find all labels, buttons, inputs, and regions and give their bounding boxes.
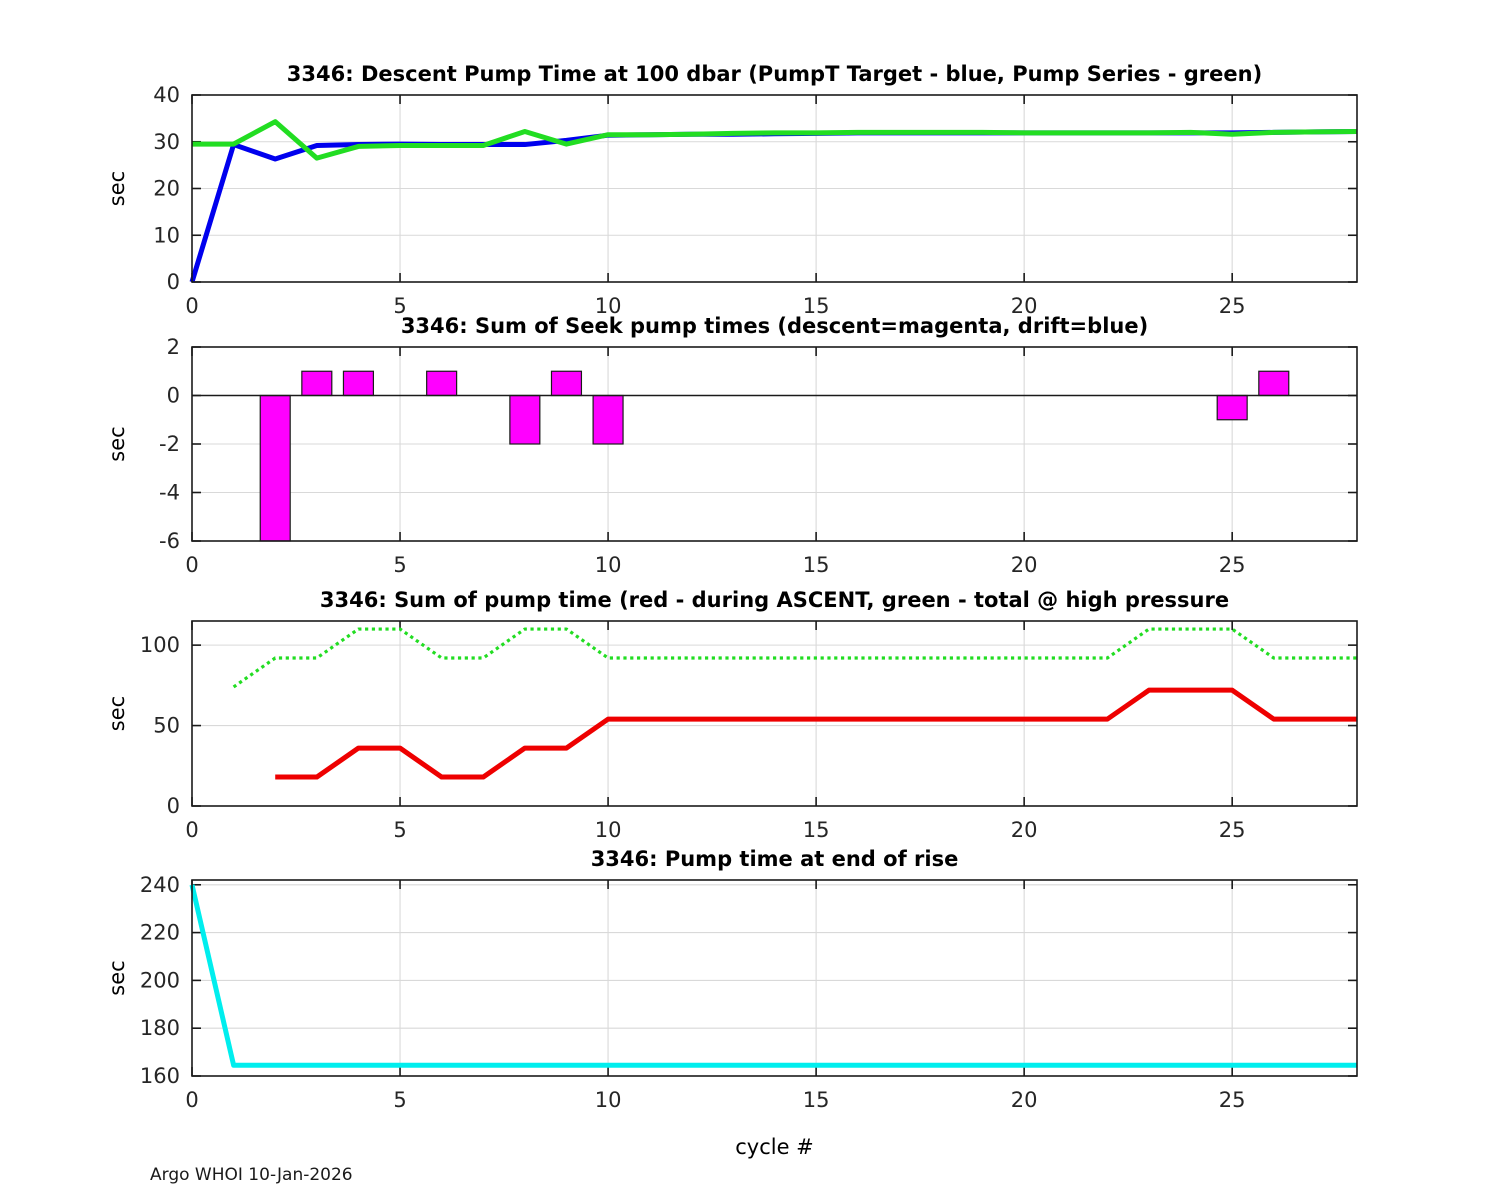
panel4-xtick-label: 10 — [595, 1088, 622, 1112]
panel1-ytick-label: 10 — [153, 223, 180, 247]
panel1-xtick-label: 25 — [1219, 294, 1246, 318]
panel2-bar — [510, 396, 540, 445]
panel4-xlabel: cycle # — [735, 1135, 814, 1159]
panel2-ytick-label: -2 — [159, 432, 180, 456]
panel1-ytick-label: 20 — [153, 177, 180, 201]
panel2-bar — [1259, 371, 1289, 395]
panel2-ytick-label: -4 — [159, 481, 180, 505]
panel3-xtick-label: 0 — [185, 818, 198, 842]
panel2-bar — [427, 371, 457, 395]
panel4-ytick-label: 180 — [140, 1016, 180, 1040]
panel1-ylabel: sec — [105, 171, 129, 206]
panel2-xtick-label: 10 — [595, 553, 622, 577]
panel2-xtick-label: 15 — [803, 553, 830, 577]
panel2-bar — [302, 371, 332, 395]
argo-pump-diagnostics-figure: 3346: Descent Pump Time at 100 dbar (Pum… — [0, 0, 1500, 1200]
panel2-bar — [1217, 396, 1247, 420]
panel3-ytick-label: 100 — [140, 633, 180, 657]
panel2-bar — [551, 371, 581, 395]
panel1-ytick-label: 0 — [167, 270, 180, 294]
panel2-bar — [343, 371, 373, 395]
panel2-bar — [260, 396, 290, 542]
panel2-ytick-label: -6 — [159, 529, 180, 553]
figure-footer: Argo WHOI 10-Jan-2026 — [150, 1165, 353, 1185]
panel2-ytick-label: 2 — [167, 335, 180, 359]
panel4-ylabel: sec — [105, 960, 129, 995]
panel2-title: 3346: Sum of Seek pump times (descent=ma… — [401, 314, 1148, 338]
panel4-title: 3346: Pump time at end of rise — [591, 847, 959, 871]
panel3-ytick-label: 0 — [167, 794, 180, 818]
panel2-xtick-label: 0 — [185, 553, 198, 577]
panel2-bar — [593, 396, 623, 445]
panel4-ytick-label: 160 — [140, 1064, 180, 1088]
panel3-title: 3346: Sum of pump time (red - during ASC… — [320, 588, 1229, 612]
panel3-xtick-label: 15 — [803, 818, 830, 842]
panel4-ytick-label: 240 — [140, 873, 180, 897]
panel4-ytick-label: 200 — [140, 968, 180, 992]
panel4-xtick-label: 20 — [1011, 1088, 1038, 1112]
panel3-xtick-label: 25 — [1219, 818, 1246, 842]
panel1-ytick-label: 40 — [153, 83, 180, 107]
panel4-xtick-label: 5 — [393, 1088, 406, 1112]
panel1-xtick-label: 0 — [185, 294, 198, 318]
panel2-xtick-label: 20 — [1011, 553, 1038, 577]
panel2-ylabel: sec — [105, 426, 129, 461]
panel3-xtick-label: 10 — [595, 818, 622, 842]
panel4-ytick-label: 220 — [140, 921, 180, 945]
panel1-title: 3346: Descent Pump Time at 100 dbar (Pum… — [287, 62, 1262, 86]
panel4-xtick-label: 25 — [1219, 1088, 1246, 1112]
panel2-ytick-label: 0 — [167, 384, 180, 408]
panel3-ylabel: sec — [105, 696, 129, 731]
panel2-xtick-label: 25 — [1219, 553, 1246, 577]
panel4-xtick-label: 15 — [803, 1088, 830, 1112]
panel4-xtick-label: 0 — [185, 1088, 198, 1112]
panel3-xtick-label: 20 — [1011, 818, 1038, 842]
panel2-xtick-label: 5 — [393, 553, 406, 577]
panel1-ytick-label: 30 — [153, 130, 180, 154]
panel3-ytick-label: 50 — [153, 714, 180, 738]
panel3-xtick-label: 5 — [393, 818, 406, 842]
